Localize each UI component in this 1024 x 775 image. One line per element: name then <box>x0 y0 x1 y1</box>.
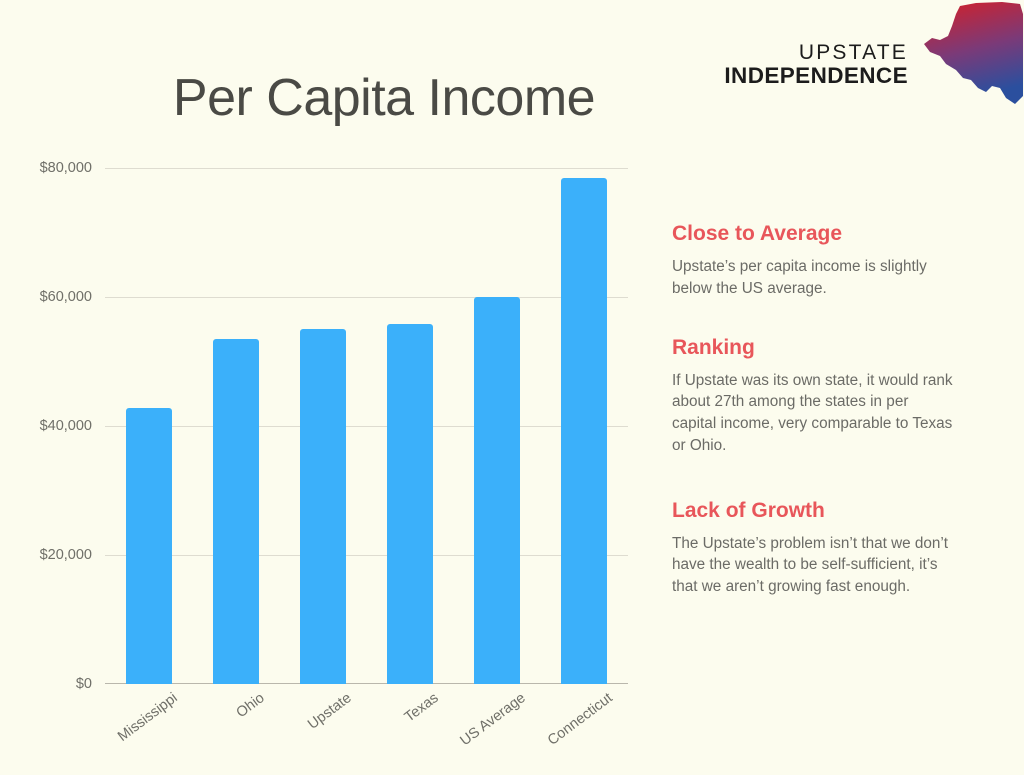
y-tick-label: $40,000 <box>0 418 92 434</box>
bar <box>474 297 520 684</box>
y-tick-label: $20,000 <box>0 547 92 563</box>
commentary-panel: Close to Average Upstate’s per capita in… <box>672 222 956 624</box>
panel-heading: Lack of Growth <box>672 499 956 522</box>
panel-block-ranking: Ranking If Upstate was its own state, it… <box>672 336 956 457</box>
x-axis-labels: MississippiOhioUpstateTexasUS AverageCon… <box>105 690 628 768</box>
bar <box>300 329 346 684</box>
panel-block-close-to-average: Close to Average Upstate’s per capita in… <box>672 222 956 300</box>
bar <box>213 339 259 684</box>
y-tick-label: $60,000 <box>0 289 92 305</box>
chart-plot-area <box>105 168 628 684</box>
panel-body-text: If Upstate was its own state, it would r… <box>672 370 956 457</box>
y-tick-label: $0 <box>0 676 92 692</box>
panel-heading: Ranking <box>672 336 956 359</box>
panel-heading: Close to Average <box>672 222 956 245</box>
y-tick-label: $80,000 <box>0 160 92 176</box>
bar <box>561 178 607 684</box>
bar <box>126 408 172 684</box>
logo-line-upstate: UPSTATE <box>724 42 908 63</box>
chart-title: Per Capita Income <box>0 68 768 128</box>
brand-logo: UPSTATE INDEPENDENCE <box>784 0 1024 118</box>
bar-series <box>105 168 628 684</box>
new-york-state-map-icon <box>916 0 1024 112</box>
panel-block-lack-of-growth: Lack of Growth The Upstate’s problem isn… <box>672 499 956 598</box>
bar <box>387 324 433 684</box>
panel-body-text: Upstate’s per capita income is slightly … <box>672 256 956 299</box>
panel-body-text: The Upstate’s problem isn’t that we don’… <box>672 533 956 598</box>
